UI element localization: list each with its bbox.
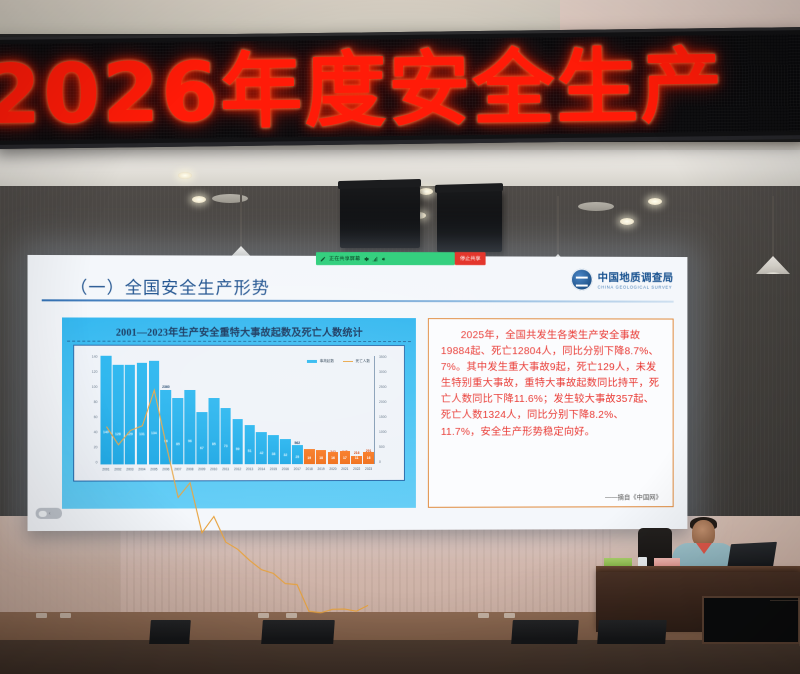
pendant-light-left xyxy=(240,188,242,252)
x-tick: 2016 xyxy=(280,467,291,477)
summary-attribution: ——摘自《中国网》 xyxy=(605,492,662,501)
chevron-left-icon[interactable]: ‹ xyxy=(49,510,51,516)
x-tick: 2014 xyxy=(256,467,267,477)
x-tick: 2010 xyxy=(208,467,219,477)
y-tick-left: 80 xyxy=(94,401,98,404)
x-tick: 2019 xyxy=(316,467,327,477)
led-banner-text: 2026年度安全生产 xyxy=(0,39,725,141)
floor-socket-1 xyxy=(36,613,47,618)
downlight-6 xyxy=(620,218,634,225)
x-tick: 2012 xyxy=(232,467,243,477)
x-tick: 2006 xyxy=(160,467,171,477)
conference-room-photo: 2026年度安全生产 正在共享屏幕 停止共享 （一）全国安全生产形势 中国地质调… xyxy=(0,0,800,674)
floor-socket-5 xyxy=(478,613,489,618)
stage-monitor-2 xyxy=(261,620,335,644)
downlight-1 xyxy=(178,172,192,179)
logo-text-zh: 中国地质调查局 xyxy=(598,270,674,285)
downlight-5 xyxy=(648,198,662,205)
floor-socket-4 xyxy=(286,613,297,618)
y-tick-right: 3000 xyxy=(379,371,387,374)
speaker-icon[interactable] xyxy=(381,256,387,262)
chart-card: 2001—2023年生产安全重特大事故起数及死亡人数统计 14012010080… xyxy=(62,317,416,508)
floor-socket-2 xyxy=(60,613,71,618)
chart-plot-area: 140120100806040200 350030002500200015001… xyxy=(73,345,405,482)
stage-monitor-1 xyxy=(149,620,191,644)
x-tick: 2002 xyxy=(113,467,124,477)
downlight-3 xyxy=(419,188,433,195)
x-tick: 2007 xyxy=(172,467,183,477)
floor-socket-6 xyxy=(504,613,515,618)
pendant-light-right xyxy=(557,196,559,260)
gear-icon[interactable] xyxy=(363,256,369,262)
ceiling-speaker-right xyxy=(437,190,502,252)
death-count-polyline xyxy=(106,390,368,614)
ceiling-speaker-left xyxy=(340,186,420,248)
cable-bundle xyxy=(770,600,800,646)
x-tick: 2008 xyxy=(184,467,195,477)
chart-title: 2001—2023年生产安全重特大事故起数及死亡人数统计 xyxy=(65,321,413,342)
x-tick: 2005 xyxy=(149,467,160,477)
title-divider xyxy=(42,299,674,302)
projection-screen: 正在共享屏幕 停止共享 （一）全国安全生产形势 中国地质调查局 CHINA GE… xyxy=(28,255,688,531)
summary-text-panel: 2025年，全国共发生各类生产安全事故19884起、死亡12804人，同比分别下… xyxy=(428,318,674,508)
y-tick-left: 140 xyxy=(92,356,98,359)
chart-y-axis-left: 140120100806040200 xyxy=(74,356,100,465)
stage-monitor-3 xyxy=(511,620,579,644)
pendant-light-far-right xyxy=(772,196,774,262)
pill-indicator-icon xyxy=(39,510,47,516)
y-tick-right: 500 xyxy=(379,446,385,449)
slide-title: （一）全国安全生产形势 xyxy=(70,273,270,299)
y-tick-right: 3500 xyxy=(379,356,387,359)
x-tick: 2020 xyxy=(328,467,339,477)
chart-death-line xyxy=(100,356,373,630)
chart-y-axis-right: 3500300025002000150010005000 xyxy=(374,356,404,464)
ceiling-vent-left xyxy=(212,194,248,203)
x-tick: 2022 xyxy=(351,467,362,477)
x-tick: 2011 xyxy=(220,467,231,477)
y-tick-right: 0 xyxy=(379,461,381,464)
chart-series-area: 2594140236112825441292604131306013423609… xyxy=(100,356,373,465)
summary-text-body: 2025年，全国共发生各类生产安全事故19884起、死亡12804人，同比分别下… xyxy=(441,328,661,440)
x-tick: 2001 xyxy=(100,467,111,477)
x-tick: 2018 xyxy=(304,467,315,477)
y-tick-left: 100 xyxy=(92,386,98,389)
downlight-2 xyxy=(192,196,206,203)
organization-logo: 中国地质调查局 CHINA GEOLOGICAL SURVEY xyxy=(571,269,674,291)
screen-share-toolbar[interactable]: 正在共享屏幕 停止共享 xyxy=(316,252,486,265)
x-tick: 2015 xyxy=(268,467,279,477)
cgs-emblem-icon xyxy=(571,269,593,291)
x-tick: 2017 xyxy=(292,467,303,477)
front-floor xyxy=(0,640,800,674)
stage-monitor-4 xyxy=(597,620,667,644)
presentation-control-pill[interactable]: ‹ xyxy=(36,508,62,519)
y-tick-right: 2500 xyxy=(379,386,387,389)
stop-share-button[interactable]: 停止共享 xyxy=(455,252,486,265)
y-tick-left: 0 xyxy=(96,461,98,464)
x-tick: 2009 xyxy=(196,467,207,477)
chart-x-axis: 2001200220032004200520062007200820092010… xyxy=(100,467,373,478)
x-tick: 2013 xyxy=(244,467,255,477)
pencil-icon[interactable] xyxy=(320,256,326,262)
logo-text-en: CHINA GEOLOGICAL SURVEY xyxy=(598,285,674,290)
ceiling-vent-right xyxy=(578,202,614,211)
y-tick-right: 1000 xyxy=(379,431,387,434)
share-status-label: 正在共享屏幕 xyxy=(329,255,360,262)
signal-icon xyxy=(372,256,378,262)
led-scrolling-banner: 2026年度安全生产 xyxy=(0,27,800,149)
y-tick-right: 2000 xyxy=(379,401,387,404)
y-tick-left: 20 xyxy=(94,446,98,449)
y-tick-right: 1500 xyxy=(379,416,387,419)
y-tick-left: 60 xyxy=(94,416,98,419)
speaker-right-top xyxy=(435,183,503,193)
y-tick-left: 120 xyxy=(92,371,98,374)
x-tick: 2004 xyxy=(137,467,148,477)
x-tick: 2003 xyxy=(125,467,136,477)
x-tick: 2021 xyxy=(339,467,350,477)
floor-socket-3 xyxy=(258,613,269,618)
x-tick: 2023 xyxy=(363,467,374,477)
led-panel: 2026年度安全生产 xyxy=(0,34,800,141)
speaker-left-top xyxy=(338,179,421,189)
y-tick-left: 40 xyxy=(94,431,98,434)
share-status-pill: 正在共享屏幕 xyxy=(316,252,455,265)
chart-title-dashed-rule xyxy=(67,341,411,342)
